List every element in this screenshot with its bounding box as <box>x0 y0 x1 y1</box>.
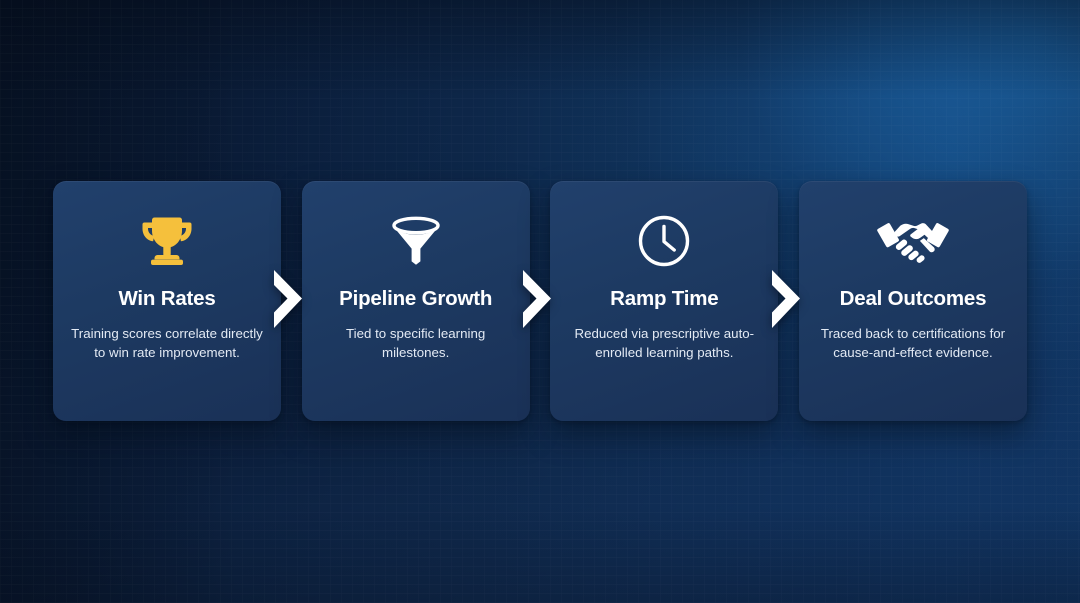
funnel-icon <box>390 215 442 267</box>
process-step-description: Tied to specific learning milestones. <box>318 324 514 363</box>
chevron-right-icon <box>770 270 804 330</box>
clock-icon <box>637 215 691 267</box>
process-step-card-deal-outcomes[interactable]: Deal Outcomes Traced back to certificati… <box>799 181 1027 421</box>
process-step-title: Deal Outcomes <box>840 287 987 311</box>
process-step-card-pipeline-growth[interactable]: Pipeline Growth Tied to specific learnin… <box>302 181 530 421</box>
process-step-card-ramp-time[interactable]: Ramp Time Reduced via prescriptive auto-… <box>550 181 778 421</box>
process-step-title: Ramp Time <box>610 287 718 311</box>
process-step-title: Win Rates <box>118 287 215 311</box>
process-flow-diagram: Win Rates Training scores correlate dire… <box>0 0 1080 603</box>
process-step-description: Traced back to certifications for cause-… <box>815 324 1011 363</box>
trophy-icon <box>138 215 196 267</box>
process-step-card-win-rates[interactable]: Win Rates Training scores correlate dire… <box>53 181 281 421</box>
chevron-right-icon <box>521 270 555 330</box>
process-step-description: Training scores correlate directly to wi… <box>69 324 265 363</box>
process-step-description: Reduced via prescriptive auto-enrolled l… <box>566 324 762 363</box>
process-step-title: Pipeline Growth <box>339 287 492 311</box>
chevron-right-icon <box>272 270 306 330</box>
handshake-icon <box>875 215 951 267</box>
